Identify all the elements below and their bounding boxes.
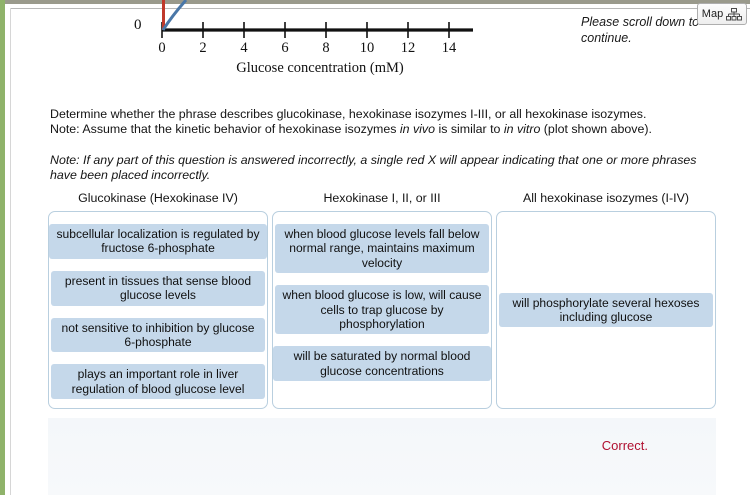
in-vitro-italic: in vitro xyxy=(504,122,541,136)
x-tick-label: 8 xyxy=(322,40,329,56)
category-column-all-hexokinase: All hexokinase isozymes (I-IV) will phos… xyxy=(496,190,716,409)
category-column-hexokinase-i-ii-iii: Hexokinase I, II, or III when blood gluc… xyxy=(272,190,492,409)
glucose-kinetics-plot: 0 2 4 6 8 10 12 14 0 Glucose concentrati… xyxy=(120,0,520,88)
hexokinase-curve xyxy=(163,0,186,30)
x-tick-label: 2 xyxy=(199,40,206,56)
category-columns: Glucokinase (Hexokinase IV) subcellular … xyxy=(48,190,716,409)
in-vivo-italic: in vivo xyxy=(400,122,435,136)
page-frame: 0 2 4 6 8 10 12 14 0 Glucose concentrati… xyxy=(0,0,750,495)
drop-zone-all-hexokinase[interactable]: will phosphorylate several hexoses inclu… xyxy=(496,211,716,409)
x-tick-label: 10 xyxy=(360,40,375,56)
x-axis-title: Glucose concentration (mM) xyxy=(120,60,520,77)
phrase-chip[interactable]: subcellular localization is regulated by… xyxy=(49,224,267,259)
instructions-line-1: Determine whether the phrase describes g… xyxy=(50,107,720,122)
phrase-chip[interactable]: plays an important role in liver regulat… xyxy=(51,364,265,399)
phrase-chip[interactable]: will be saturated by normal blood glucos… xyxy=(273,346,491,381)
x-tick-label: 12 xyxy=(401,40,416,56)
x-tick-label: 6 xyxy=(281,40,288,56)
x-tick-label: 0 xyxy=(158,40,165,56)
org-chart-icon xyxy=(726,8,742,21)
category-header: Glucokinase (Hexokinase IV) xyxy=(48,190,268,211)
incorrect-answer-note: Note: If any part of this question is an… xyxy=(50,153,720,183)
x-tick-label: 4 xyxy=(240,40,248,56)
instructions-line-2-part-b: is similar to xyxy=(435,122,504,136)
phrase-chip[interactable]: when blood glucose is low, will cause ce… xyxy=(275,285,489,334)
left-accent-stripe xyxy=(0,0,5,495)
map-button[interactable]: Map xyxy=(697,3,747,25)
y-axis-zero-label: 0 xyxy=(134,17,142,34)
category-header: All hexokinase isozymes (I-IV) xyxy=(496,190,716,211)
instructions-line-2-part-a: Note: Assume that the kinetic behavior o… xyxy=(50,122,400,136)
phrase-chip[interactable]: when blood glucose levels fall below nor… xyxy=(275,224,489,273)
x-tick-label: 14 xyxy=(442,40,457,56)
content-left-edge xyxy=(10,8,11,495)
x-tick-labels: 0 2 4 6 8 10 12 14 xyxy=(158,40,457,56)
instructions-line-2-part-c: (plot shown above). xyxy=(540,122,652,136)
phrase-chip[interactable]: not sensitive to inhibition by glucose 6… xyxy=(51,318,265,353)
phrase-chip[interactable]: present in tissues that sense blood gluc… xyxy=(51,271,265,306)
category-column-glucokinase: Glucokinase (Hexokinase IV) subcellular … xyxy=(48,190,268,409)
instructions: Determine whether the phrase describes g… xyxy=(50,107,720,183)
category-header: Hexokinase I, II, or III xyxy=(272,190,492,211)
drop-zone-hexokinase-i-ii-iii[interactable]: when blood glucose levels fall below nor… xyxy=(272,211,492,409)
plot-svg: 0 2 4 6 8 10 12 14 xyxy=(120,0,520,60)
feedback-status-text: Correct. xyxy=(602,438,648,453)
feedback-panel: Correct. xyxy=(48,418,716,495)
instructions-line-2: Note: Assume that the kinetic behavior o… xyxy=(50,122,720,137)
phrase-chip[interactable]: will phosphorylate several hexoses inclu… xyxy=(499,293,713,328)
drop-zone-glucokinase[interactable]: subcellular localization is regulated by… xyxy=(48,211,268,409)
map-button-label: Map xyxy=(702,9,723,20)
